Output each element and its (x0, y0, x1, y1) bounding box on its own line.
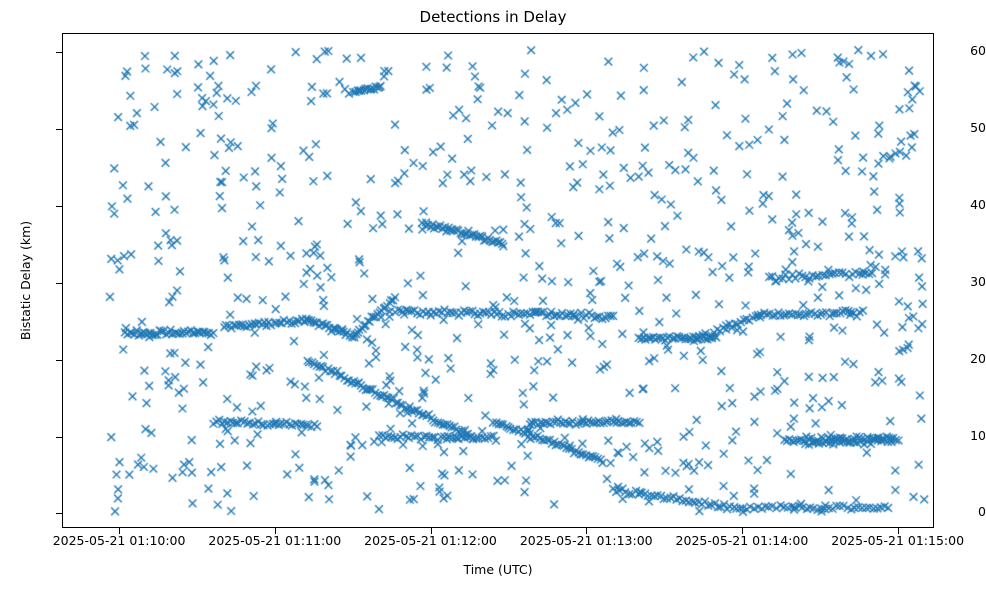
y-axis-label: Bistatic Delay (km) (18, 33, 38, 528)
matplotlib-figure: Detections in Delay 0102030405060 2025-0… (0, 0, 986, 590)
x-tick-label: 2025-05-21 01:15:00 (823, 533, 973, 548)
x-tick-label: 2025-05-21 01:13:00 (511, 533, 661, 548)
x-axis-label: Time (UTC) (62, 562, 934, 577)
x-tick-label: 2025-05-21 01:10:00 (44, 533, 194, 548)
x-tick-label: 2025-05-21 01:14:00 (667, 533, 817, 548)
x-tick-label: 2025-05-21 01:11:00 (200, 533, 350, 548)
x-tick-label: 2025-05-21 01:12:00 (356, 533, 506, 548)
x-axis-ticks: 2025-05-21 01:10:002025-05-21 01:11:0020… (0, 0, 986, 590)
